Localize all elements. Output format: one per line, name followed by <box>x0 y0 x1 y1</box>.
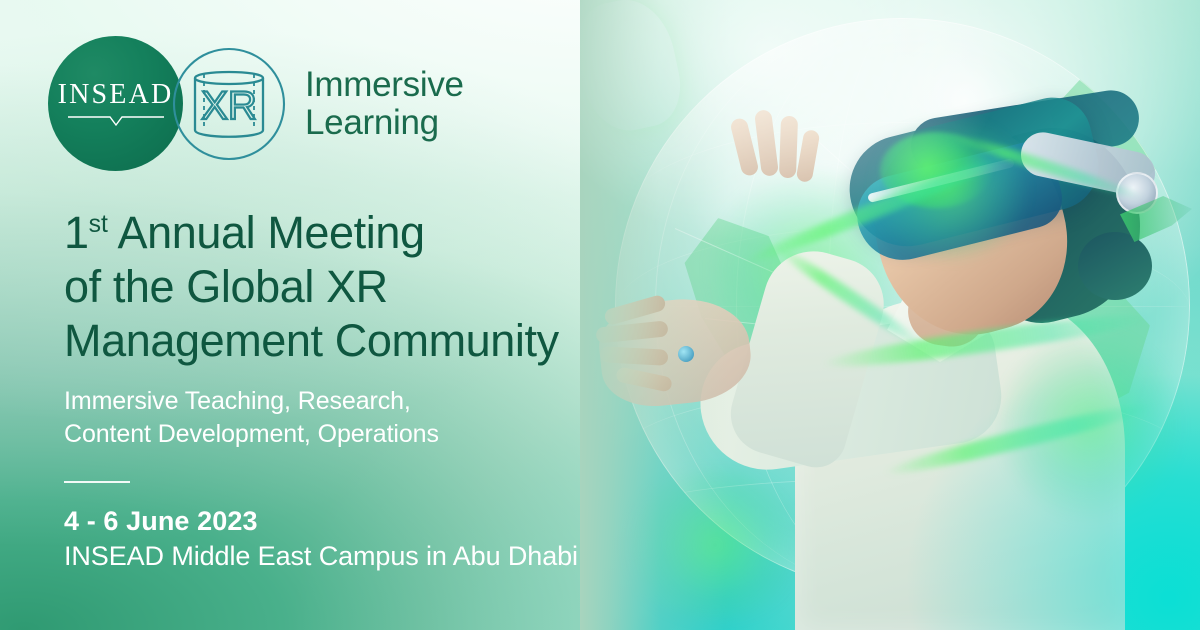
insead-book-rule-icon <box>68 116 164 127</box>
event-banner: INSEAD XR Immersive Learning 1st Annual … <box>0 0 1200 630</box>
event-date: 4 - 6 June 2023 <box>64 506 674 537</box>
subtitle: Immersive Teaching, Research, Content De… <box>64 385 674 451</box>
insead-wordmark: INSEAD <box>58 81 174 109</box>
xr-panorama-cylinder-icon[interactable]: XR <box>169 44 289 164</box>
lockup-line-1: Immersive <box>305 66 464 104</box>
headline-ordinal-suffix: st <box>89 211 108 238</box>
headline-line-1-rest: Annual Meeting <box>108 207 425 258</box>
headline-ordinal-number: 1 <box>64 207 89 258</box>
headline-line-2: of the Global XR <box>64 260 674 314</box>
headline-line-3: Management Community <box>64 314 674 368</box>
divider <box>64 481 130 483</box>
headline-line-1: 1st Annual Meeting <box>64 206 674 260</box>
insead-logo-icon[interactable]: INSEAD <box>48 36 183 171</box>
subtitle-line-1: Immersive Teaching, Research, <box>64 385 674 418</box>
lockup-line-2: Learning <box>305 104 464 142</box>
subtitle-line-2: Content Development, Operations <box>64 418 674 451</box>
copy-block: 1st Annual Meeting of the Global XR Mana… <box>64 206 674 572</box>
immersive-learning-lockup-text: Immersive Learning <box>305 66 464 142</box>
event-venue: INSEAD Middle East Campus in Abu Dhabi <box>64 541 674 572</box>
page-title: 1st Annual Meeting of the Global XR Mana… <box>64 206 674 368</box>
logo-lockup[interactable]: INSEAD XR Immersive Learning <box>48 36 464 171</box>
svg-text:XR: XR <box>201 84 257 128</box>
